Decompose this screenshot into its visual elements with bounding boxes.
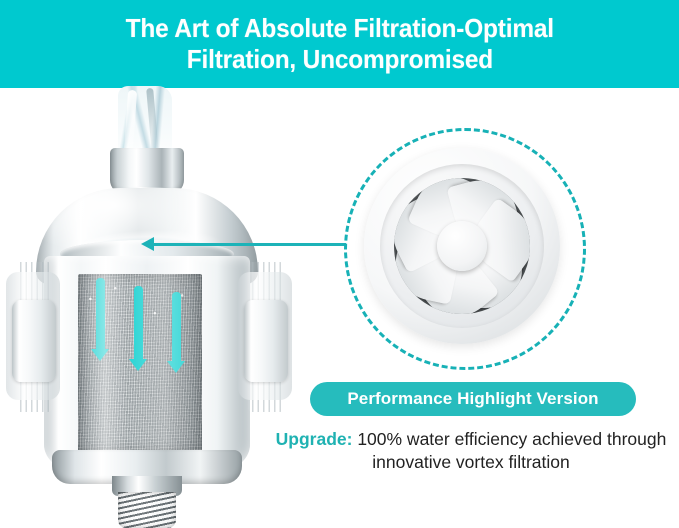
filter-threaded-outlet xyxy=(118,492,176,528)
upgrade-description: Upgrade: 100% water efficiency achieved … xyxy=(270,428,672,474)
upgrade-text: 100% water efficiency achieved through i… xyxy=(352,429,666,472)
impeller-backplate xyxy=(394,178,530,314)
nozzle-cap-left xyxy=(12,300,56,382)
impeller-detail-image xyxy=(364,148,560,344)
performance-badge: Performance Highlight Version xyxy=(310,382,636,416)
performance-badge-label: Performance Highlight Version xyxy=(347,389,598,409)
filter-side-nozzle-right xyxy=(238,262,292,412)
nozzle-cap-right xyxy=(244,300,288,382)
banner-title-line-2: Filtration, Uncompromised xyxy=(186,44,492,75)
product-feature-banner: The Art of Absolute Filtration-Optimal F… xyxy=(0,0,679,509)
callout-arrow-icon xyxy=(141,237,154,251)
filter-side-nozzle-left xyxy=(6,262,60,412)
upgrade-label: Upgrade: xyxy=(276,429,353,449)
callout-line xyxy=(150,243,346,246)
header-banner: The Art of Absolute Filtration-Optimal F… xyxy=(0,0,679,88)
cartridge-glass-sheen xyxy=(78,274,202,452)
banner-title-line-1: The Art of Absolute Filtration-Optimal xyxy=(125,13,553,44)
impeller-hub xyxy=(437,221,487,271)
product-image xyxy=(0,88,300,509)
filter-cartridge-media xyxy=(78,274,202,452)
